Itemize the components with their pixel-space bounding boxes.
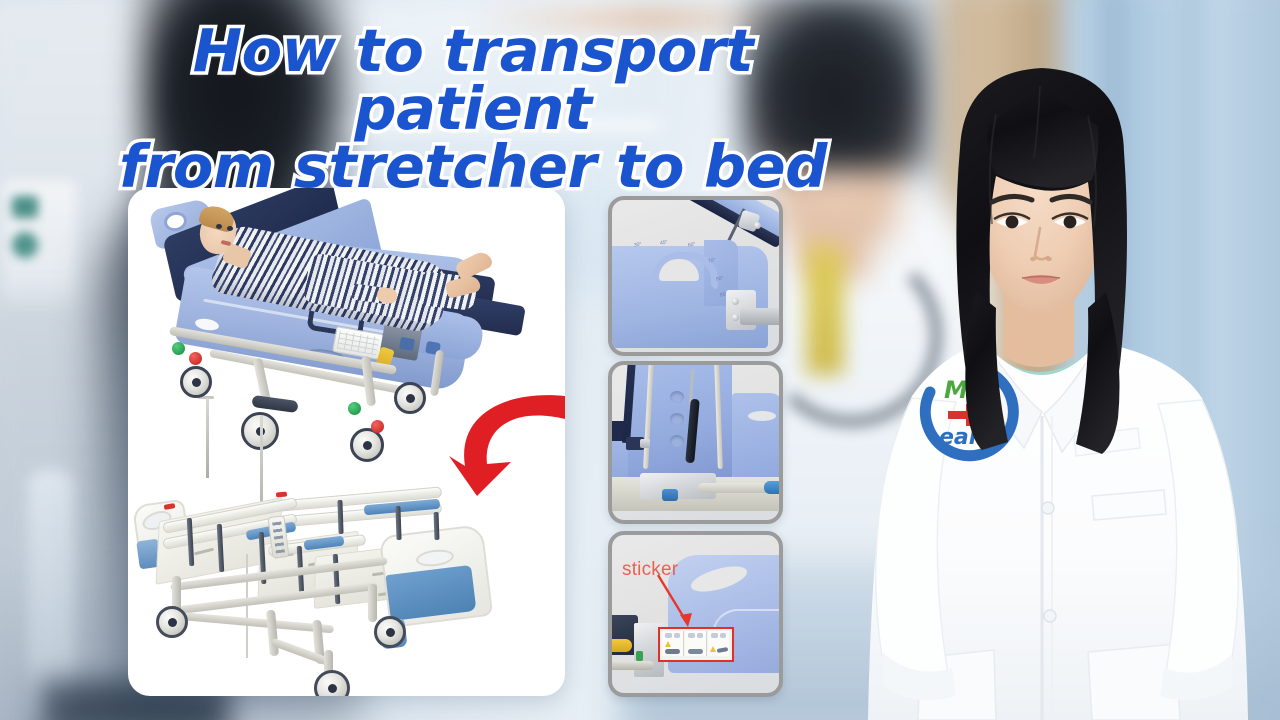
sticker-pointer-arrow-icon — [656, 573, 698, 633]
sticker-annotation-label: sticker — [622, 559, 678, 581]
background-wall-indicator-icon — [12, 196, 38, 218]
presenter-photo: Me eall — [836, 56, 1280, 720]
poster-canvas: How to transport patient from stretcher … — [0, 0, 1280, 720]
hospital-bed-image — [128, 458, 565, 696]
detail-thumbnail-panel-2[interactable] — [608, 361, 783, 524]
detail-thumbnail-panel-1[interactable]: 30° 45° 60° 70° 80° 85° — [608, 196, 783, 356]
background-wall-indicator-icon — [12, 232, 38, 258]
page-title: How to transport patient from stretcher … — [78, 22, 868, 196]
main-product-card — [128, 188, 565, 696]
detail-thumbnail-panel-3[interactable]: sticker — [608, 531, 783, 697]
